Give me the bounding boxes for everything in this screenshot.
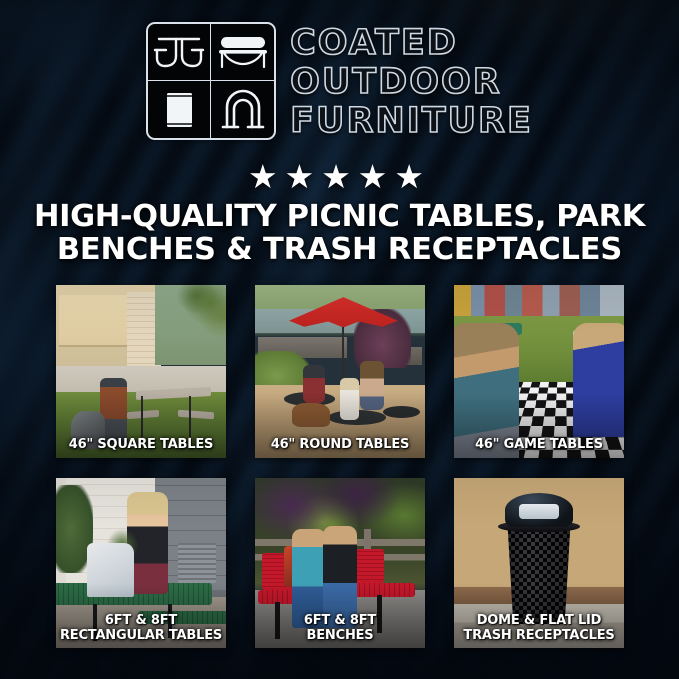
product-tile-game-tables[interactable]: 46" GAME TABLES <box>454 285 624 458</box>
brand-logo: COATED OUTDOOR FURNITURE <box>0 22 679 141</box>
page-title: HIGH-QUALITY PICNIC TABLES, PARK BENCHES… <box>28 200 651 266</box>
product-caption-line-2: BENCHES <box>258 629 422 644</box>
product-caption-line-1: 46" SQUARE TABLES <box>59 438 223 453</box>
brand-wordmark: COATED OUTDOOR FURNITURE <box>290 22 533 141</box>
product-tile-benches[interactable]: 6FT & 8FT BENCHES <box>255 478 425 648</box>
product-caption: 6FT & 8FT RECTANGULAR TABLES <box>59 614 223 643</box>
product-caption: 46" GAME TABLES <box>457 438 621 453</box>
product-caption-line-1: 6FT & 8FT <box>59 614 223 629</box>
product-caption-line-2: RECTANGULAR TABLES <box>59 629 223 644</box>
product-grid: 46" SQUARE TABLES 46" ROUND TABLES <box>56 285 616 648</box>
product-tile-round-tables[interactable]: 46" ROUND TABLES <box>255 285 425 458</box>
product-caption: 46" SQUARE TABLES <box>59 438 223 453</box>
trash-receptacle-icon <box>148 81 211 138</box>
product-tile-trash-receptacles[interactable]: DOME & FLAT LID TRASH RECEPTACLES <box>454 478 624 648</box>
star-rating: ★★★★★ <box>0 158 679 196</box>
product-caption-line-1: 46" ROUND TABLES <box>258 438 422 453</box>
product-caption-line-2: TRASH RECEPTACLES <box>457 629 621 644</box>
park-bench-icon <box>211 24 274 81</box>
star-rating-glyphs: ★★★★★ <box>248 158 431 196</box>
bike-rack-icon <box>211 81 274 138</box>
brand-name-line-3: FURNITURE <box>290 102 533 141</box>
product-photo <box>56 285 226 458</box>
product-caption-line-1: 6FT & 8FT <box>258 614 422 629</box>
product-photo <box>255 285 425 458</box>
logo-mark-grid <box>146 22 276 140</box>
product-caption: 6FT & 8FT BENCHES <box>258 614 422 643</box>
headline-line-1: HIGH-QUALITY PICNIC TABLES, PARK <box>28 200 651 233</box>
product-caption-line-1: DOME & FLAT LID <box>457 614 621 629</box>
picnic-table-icon <box>148 24 211 81</box>
product-caption: 46" ROUND TABLES <box>258 438 422 453</box>
brand-name-line-1: COATED <box>290 24 533 63</box>
banner-content: COATED OUTDOOR FURNITURE ★★★★★ HIGH-QUAL… <box>0 0 679 679</box>
product-photo <box>454 285 624 458</box>
product-caption-line-1: 46" GAME TABLES <box>457 438 621 453</box>
product-tile-square-tables[interactable]: 46" SQUARE TABLES <box>56 285 226 458</box>
brand-name-line-2: OUTDOOR <box>290 63 533 102</box>
product-caption: DOME & FLAT LID TRASH RECEPTACLES <box>457 614 621 643</box>
product-tile-rectangular-tables[interactable]: 6FT & 8FT RECTANGULAR TABLES <box>56 478 226 648</box>
headline-line-2: BENCHES & TRASH RECEPTACLES <box>28 233 651 266</box>
